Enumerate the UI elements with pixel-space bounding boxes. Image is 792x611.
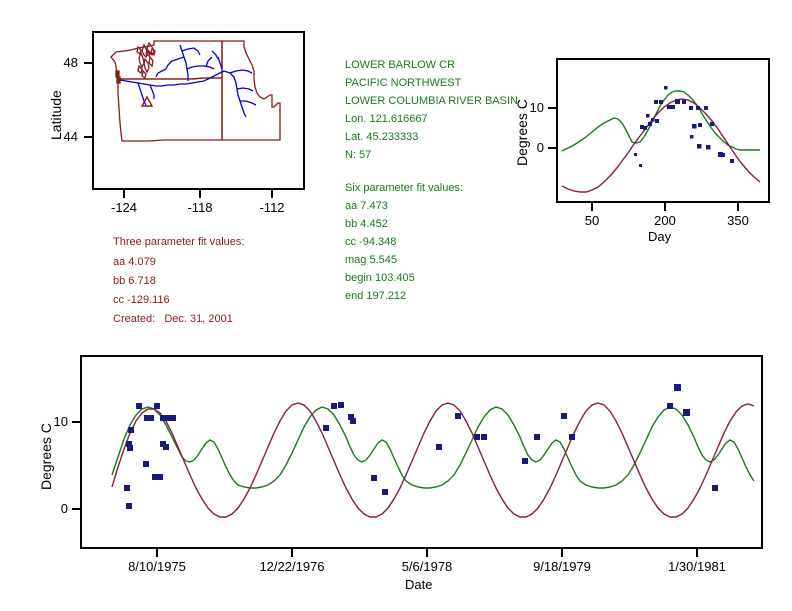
station-name: LOWER BARLOW CR <box>345 57 455 74</box>
time-series-xtick-5: 1/30/1981 <box>652 559 742 574</box>
three-param-bb: bb 6.718 <box>113 273 156 290</box>
six-param-begin: begin 103.405 <box>345 270 415 287</box>
day-of-year-plot-frame <box>556 58 770 203</box>
time-series-plot-graphic <box>82 357 761 547</box>
map-xtick-m124: -124 <box>99 200 149 215</box>
station-basin: LOWER COLUMBIA RIVER BASIN <box>345 93 518 110</box>
six-param-cc: cc -94.348 <box>345 234 396 251</box>
station-sample-count: N: 57 <box>345 147 371 164</box>
map-graphic <box>94 33 303 188</box>
time-series-plot-frame <box>80 355 763 549</box>
data-points <box>124 384 718 509</box>
day-plot-xtick-50: 50 <box>572 213 612 228</box>
station-latitude: Lat. 45.233333 <box>345 129 418 146</box>
time-series-xlabel: Date <box>405 577 432 592</box>
map-ytick-48: 48 <box>56 55 78 70</box>
three-param-aa: aa 4.079 <box>113 254 156 271</box>
created-date: Created: Dec. 31, 2001 <box>113 311 233 328</box>
six-param-end: end 197.212 <box>345 288 406 305</box>
six-param-aa: aa 7.473 <box>345 198 388 215</box>
six-parameter-fit-curve <box>112 407 754 488</box>
time-series-ytick-0: 0 <box>46 501 68 516</box>
day-plot-ylabel: Degrees C <box>514 99 530 166</box>
six-param-heading: Six parameter fit values: <box>345 180 463 197</box>
time-series-xtick-3: 5/6/1978 <box>382 559 472 574</box>
map-panel-frame <box>92 31 305 190</box>
day-of-year-plot-graphic <box>558 60 768 201</box>
time-series-xtick-2: 12/22/1976 <box>247 559 337 574</box>
day-plot-xlabel: Day <box>648 229 671 244</box>
station-longitude: Lon. 121.616667 <box>345 111 428 128</box>
time-series-xtick-1: 8/10/1975 <box>112 559 202 574</box>
day-plot-xtick-200: 200 <box>645 213 685 228</box>
time-series-xtick-4: 9/18/1979 <box>517 559 607 574</box>
time-series-ylabel: Degrees C <box>38 423 54 490</box>
six-param-bb: bb 4.452 <box>345 216 388 233</box>
figure-page: 48 44 -124 -118 -112 Latitude LOWER BARL… <box>0 0 792 611</box>
three-param-cc: cc -129.116 <box>113 292 170 309</box>
three-param-heading: Three parameter fit values: <box>113 234 244 251</box>
station-region: PACIFIC NORTHWEST <box>345 75 461 92</box>
map-xtick-m112: -112 <box>247 200 297 215</box>
map-xtick-m118: -118 <box>175 200 225 215</box>
day-plot-xtick-350: 350 <box>718 213 758 228</box>
six-param-mag: mag 5.545 <box>345 252 397 269</box>
three-parameter-fit-curve <box>112 403 754 517</box>
map-ylabel: Latitude <box>48 90 64 140</box>
